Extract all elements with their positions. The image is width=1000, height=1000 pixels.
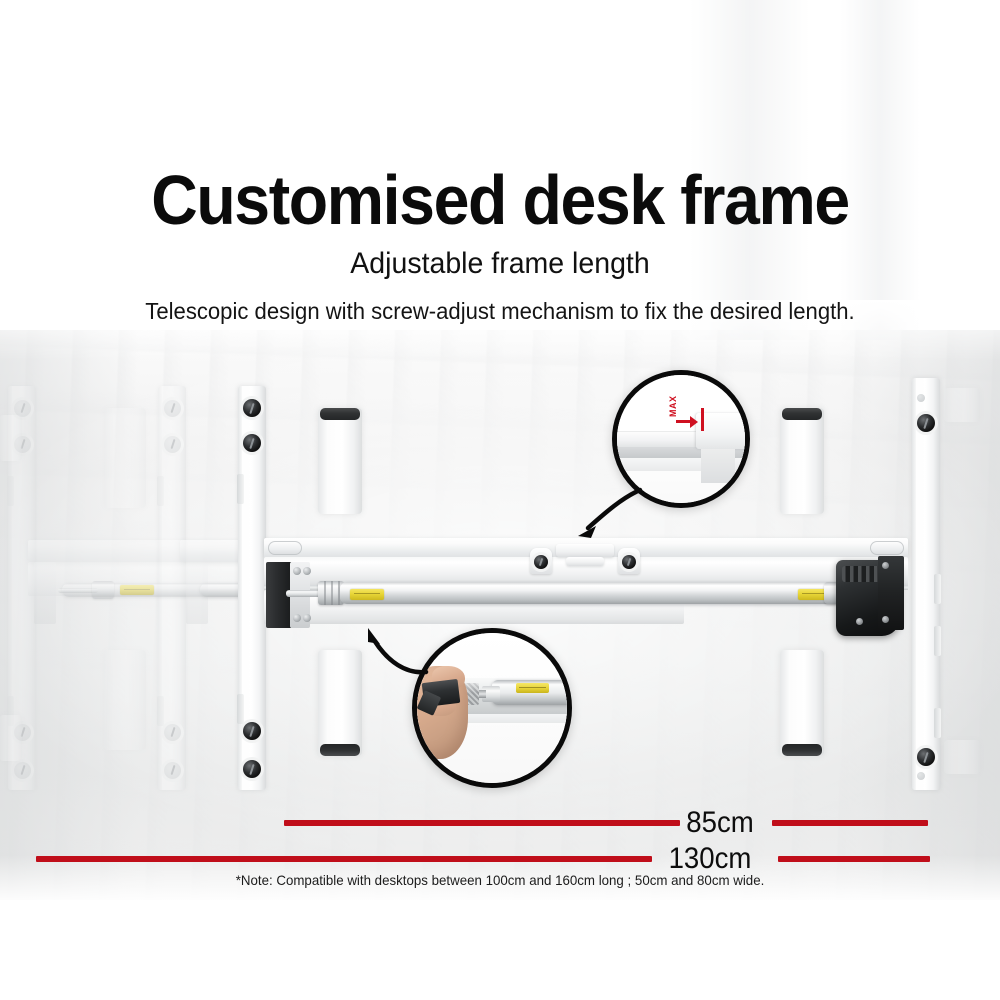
measure-rule-130-right <box>778 856 930 862</box>
max-stop-mark <box>701 408 704 431</box>
ghost-bracket-1 <box>34 562 56 624</box>
right-footpad-top <box>782 408 822 420</box>
ghost-rod-collar-1 <box>92 581 114 599</box>
right-leg-pin-top <box>917 394 925 402</box>
rod-warning-label-left <box>350 589 384 600</box>
max-arrow-icon <box>676 415 702 427</box>
beam-end-cap-right <box>870 541 904 555</box>
ghost-foot-panel-a <box>104 408 146 508</box>
right-leg-column <box>912 378 940 790</box>
compatibility-note: *Note: Compatible with desktops between … <box>25 872 975 888</box>
measure-rule-85-left <box>284 820 680 826</box>
ghost-foot-1-top <box>0 415 22 461</box>
measure-rule-130-left <box>36 856 652 862</box>
bracket-bolt-4 <box>303 614 311 622</box>
right-foot-bottom <box>780 650 824 756</box>
bracket-bolt-2 <box>303 567 311 575</box>
measure-rule-85-right <box>772 820 928 826</box>
callout-arrow-bottom <box>348 614 434 684</box>
right-edge-panel-2 <box>944 740 980 774</box>
bracket-bolt-3 <box>293 614 301 622</box>
product-infographic: Customised desk frame Adjustable frame l… <box>0 0 1000 1000</box>
motor-screw-1 <box>882 562 889 569</box>
motor-screw-2 <box>882 616 889 623</box>
telescopic-rod <box>340 582 840 604</box>
right-edge-panel <box>944 388 980 422</box>
left-footpad-bottom <box>320 744 360 756</box>
callout-screw-adjust[interactable] <box>412 628 572 788</box>
right-leg-pin-bottom <box>917 772 925 780</box>
page-subtitle: Adjustable frame length <box>25 247 975 281</box>
left-leg-column <box>238 386 266 790</box>
right-foot-top <box>780 408 824 514</box>
measure-label-85: 85cm <box>674 806 766 840</box>
callout-arrow-top <box>548 486 644 552</box>
left-foot-top <box>318 408 362 514</box>
bracket-bolt-1 <box>293 567 301 575</box>
right-footpad-bottom <box>782 744 822 756</box>
beam-center-tab-2 <box>566 557 604 566</box>
measure-label-130: 130cm <box>653 842 767 876</box>
beam-end-cap-left <box>268 541 302 555</box>
ghost-foot-panel-b <box>104 650 146 750</box>
callout-rod-label <box>516 683 549 694</box>
page-title: Customised desk frame <box>40 160 960 240</box>
ghost-rod-label-1 <box>120 585 154 595</box>
motor-screw-3 <box>856 618 863 625</box>
page-tagline: Telescopic design with screw-adjust mech… <box>20 298 980 325</box>
left-footpad-top <box>320 408 360 420</box>
ghost-foot-1-bottom <box>0 715 22 761</box>
